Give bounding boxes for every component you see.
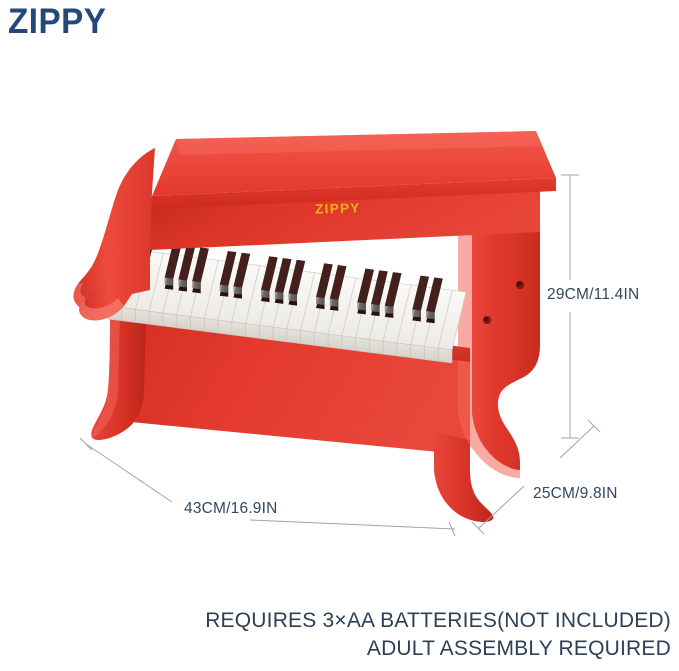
white-key-front — [273, 327, 287, 342]
white-key-front — [163, 313, 177, 328]
footer-note-assembly: ADULT ASSEMBLY REQUIRED — [205, 635, 671, 663]
black-key-tip — [371, 304, 380, 312]
black-key-tip — [220, 285, 229, 293]
black-key-tip — [233, 286, 242, 294]
white-key-front — [397, 343, 411, 358]
black-key-tip — [288, 294, 297, 302]
white-key-front — [218, 320, 232, 335]
black-key-tip — [275, 292, 284, 300]
dimension-label-depth: 25CM/9.8IN — [533, 485, 618, 503]
black-key-tip — [385, 306, 394, 314]
dimension-line-width — [80, 438, 455, 536]
white-key-front — [136, 310, 150, 325]
white-key-front — [122, 308, 136, 323]
white-key-front — [424, 346, 438, 361]
white-key-front — [246, 324, 260, 339]
white-key-front — [383, 341, 397, 356]
white-key-front — [191, 317, 205, 332]
black-key-tip — [316, 297, 325, 305]
black-key-tip — [412, 309, 421, 317]
black-key-tip — [165, 278, 174, 286]
white-key-front — [356, 338, 370, 353]
black-key-tip — [178, 279, 187, 287]
white-key-front — [301, 331, 315, 346]
product-image-canvas: ZIPPY — [0, 0, 679, 671]
white-key-front — [232, 322, 246, 337]
footer-notes: REQUIRES 3×AA BATTERIES(NOT INCLUDED) AD… — [205, 607, 671, 663]
white-key-front — [204, 318, 218, 333]
white-key-front — [177, 315, 191, 330]
white-key-front — [411, 345, 425, 360]
white-key-front — [149, 311, 163, 326]
white-key-front — [259, 325, 273, 340]
black-key-tip — [192, 281, 201, 289]
white-key-front — [287, 329, 301, 344]
white-key-front — [314, 332, 328, 347]
dimension-label-height: 29CM/11.4IN — [547, 286, 639, 304]
product-illustration: ZIPPY — [0, 0, 679, 671]
white-key-front — [369, 339, 383, 354]
black-key-tip — [330, 299, 339, 307]
black-key-tip — [426, 311, 435, 319]
black-key-tip — [261, 290, 270, 298]
dimension-label-width: 43CM/16.9IN — [184, 500, 278, 518]
black-key-tip — [357, 302, 366, 310]
white-key-front — [328, 334, 342, 349]
footer-note-batteries: REQUIRES 3×AA BATTERIES(NOT INCLUDED) — [205, 607, 671, 635]
dimension-line-height — [561, 175, 579, 438]
piano-nameplate: ZIPPY — [315, 200, 361, 216]
white-key-front — [438, 348, 452, 363]
toy-piano-graphic: ZIPPY — [0, 0, 679, 671]
white-key-front — [342, 336, 356, 351]
